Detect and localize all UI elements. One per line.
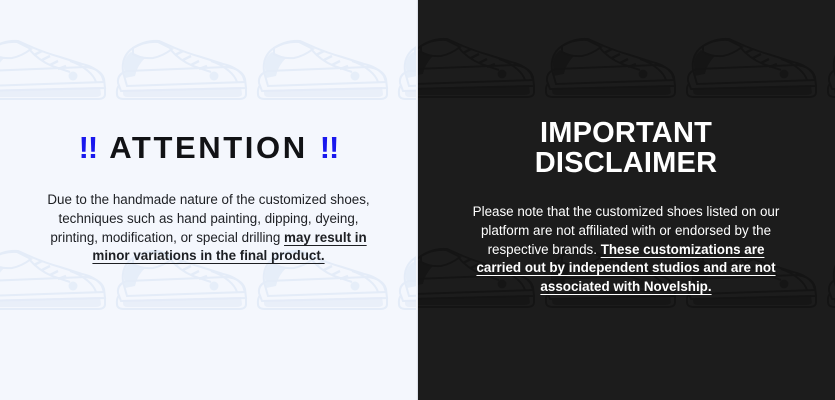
exclamation-right-icon: !! <box>320 131 339 165</box>
attention-heading: !!ATTENTION!! <box>0 131 417 165</box>
attention-heading-text: ATTENTION <box>109 131 307 165</box>
attention-content: !!ATTENTION!! Due to the handmade nature… <box>0 0 417 400</box>
attention-panel: !!ATTENTION!! Due to the handmade nature… <box>0 0 417 400</box>
disclaimer-content: IMPORTANT DISCLAIMER Please note that th… <box>417 0 835 400</box>
panel-divider <box>416 0 418 400</box>
attention-disclaimer-banner: !!ATTENTION!! Due to the handmade nature… <box>0 0 835 400</box>
attention-body: Due to the handmade nature of the custom… <box>0 191 417 265</box>
disclaimer-heading-line-2: DISCLAIMER <box>417 148 835 178</box>
disclaimer-panel: IMPORTANT DISCLAIMER Please note that th… <box>417 0 835 400</box>
disclaimer-body: Please note that the customized shoes li… <box>417 203 835 296</box>
disclaimer-heading-line-1: IMPORTANT <box>417 118 835 148</box>
exclamation-left-icon: !! <box>79 131 98 165</box>
disclaimer-heading: IMPORTANT DISCLAIMER <box>417 118 835 178</box>
